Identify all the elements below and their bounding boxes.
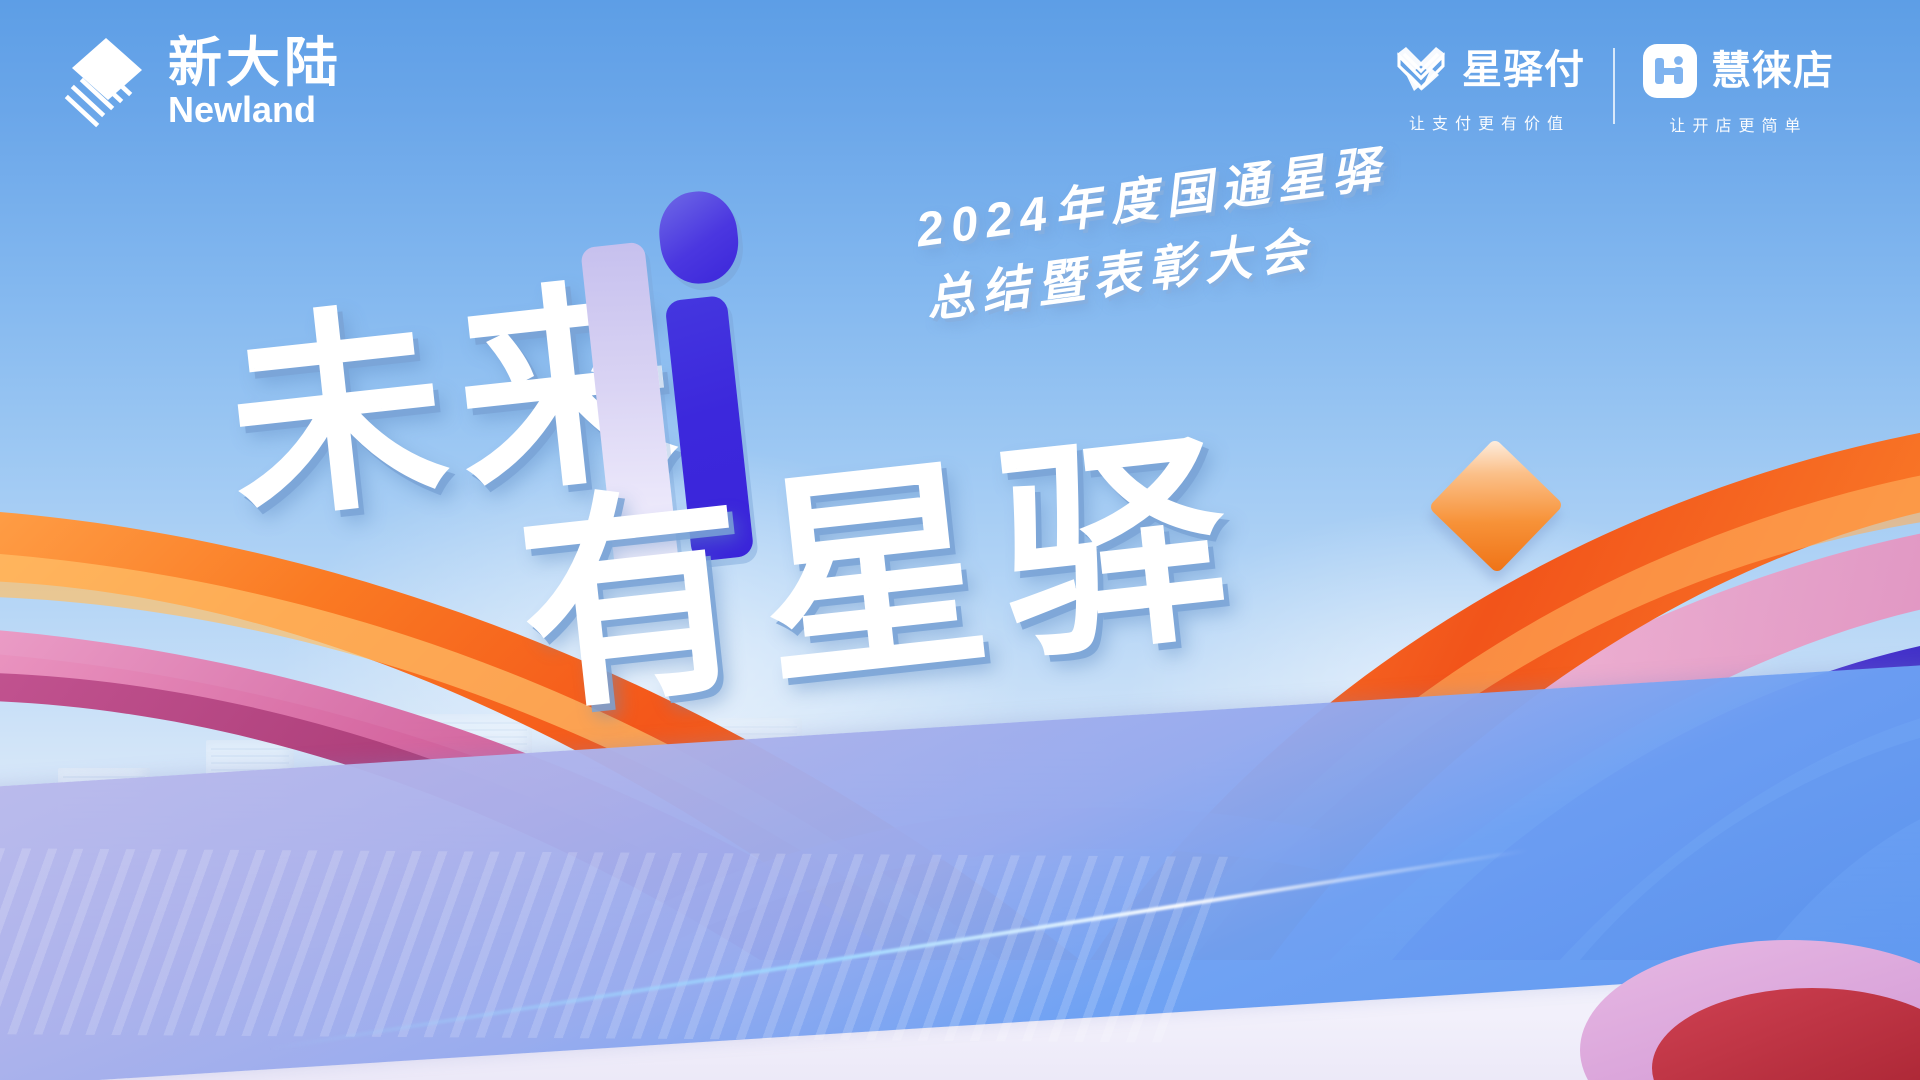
accent-i-glyph [655, 188, 742, 288]
ground-hatch-pattern [0, 848, 1235, 1042]
huilaidian-logo-row: 慧徕店 [1643, 44, 1834, 98]
newland-name-en: Newland [168, 92, 342, 128]
partner-logos: 星驿付 让支付更有价值 慧徕店 [1366, 44, 1862, 136]
newland-logo[interactable]: 新大陆 Newland [62, 36, 342, 128]
accent-pale-stroke [580, 241, 679, 576]
huilaidian-h-icon [1643, 44, 1697, 98]
xingyifu-tagline: 让支付更有价值 [1409, 110, 1570, 134]
accent-stem [664, 295, 754, 562]
headline-line-1: 未来 [211, 203, 700, 562]
accent-dot [655, 188, 742, 288]
subtitle-line-1: 2024年度国通星驿 [912, 133, 1392, 266]
poster-canvas: 新大陆 Newland [0, 0, 1920, 1080]
subtitle-block: 2024年度国通星驿 总结暨表彰大会 [912, 133, 1401, 337]
xingyifu-logo-row: 星驿付 [1394, 44, 1585, 96]
orange-diamond-icon [1428, 438, 1564, 574]
subtitle-line-2: 总结暨表彰大会 [921, 204, 1401, 337]
newland-diamond-mark [62, 36, 148, 128]
huilaidian-logo[interactable]: 慧徕店 让开店更简单 [1615, 44, 1862, 136]
newland-name-cn: 新大陆 [168, 36, 342, 90]
huilaidian-name: 慧徕店 [1711, 51, 1834, 91]
newland-wordmark: 新大陆 Newland [168, 36, 342, 128]
xingyifu-logo[interactable]: 星驿付 让支付更有价值 [1366, 44, 1613, 134]
xingyifu-name: 星驿付 [1462, 50, 1585, 90]
huilaidian-tagline: 让开店更简单 [1669, 112, 1807, 136]
xingyifu-heart-icon [1394, 44, 1448, 96]
